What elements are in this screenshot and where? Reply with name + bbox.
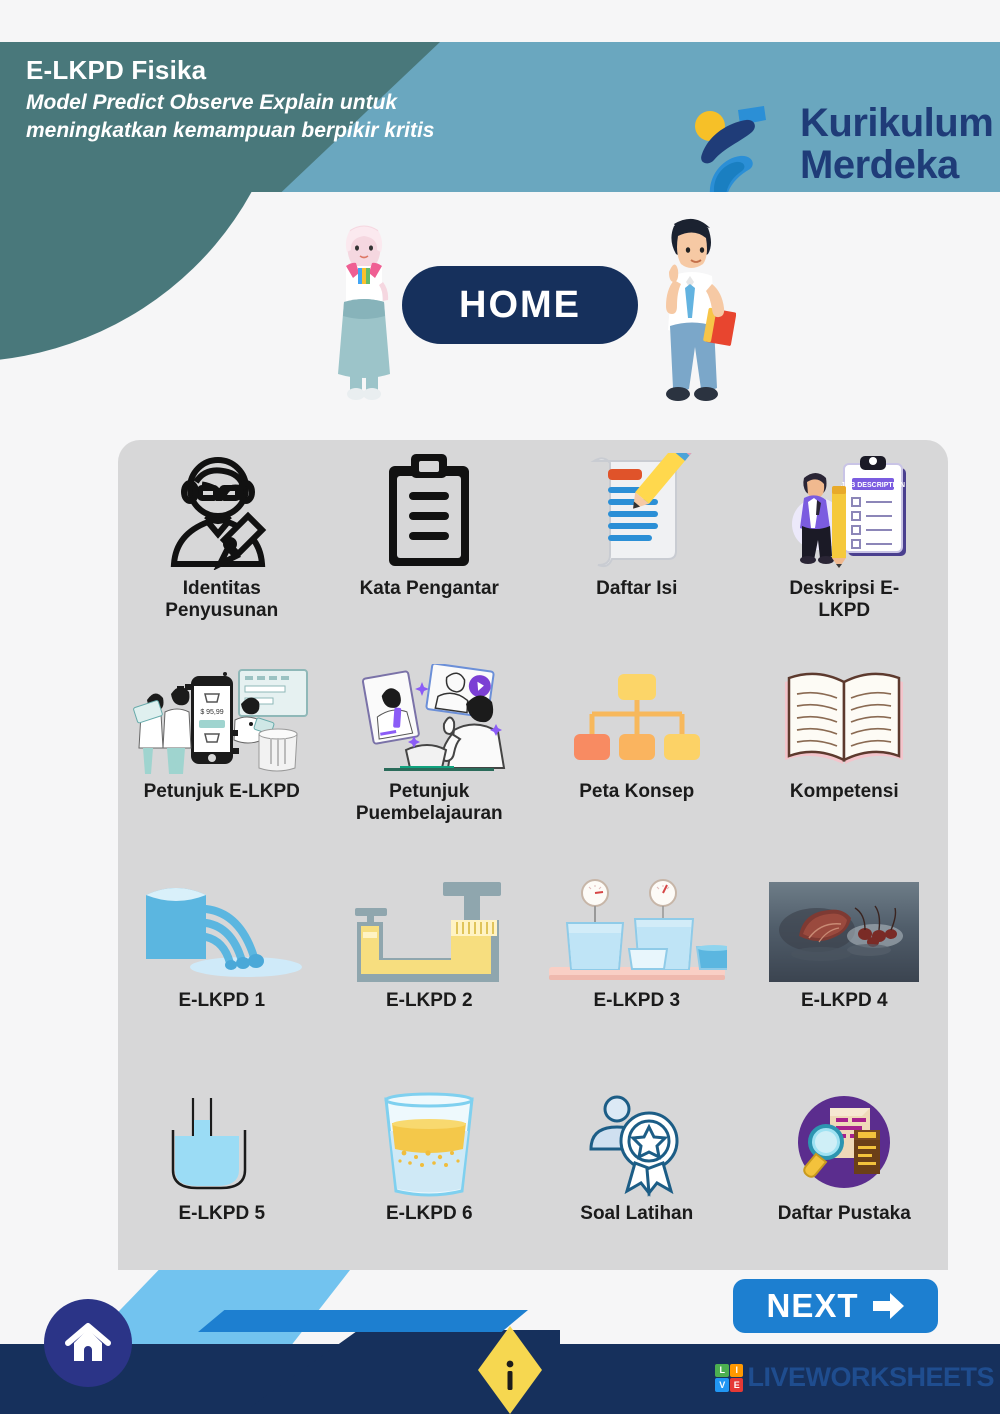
menu-kata-pengantar[interactable]: Kata Pengantar bbox=[326, 440, 534, 655]
next-button[interactable]: NEXT bbox=[733, 1279, 938, 1333]
menu-identitas-penyusunan[interactable]: Identitas Penyusunan bbox=[118, 440, 326, 655]
menu-petunjuk-elkpd[interactable]: $ 95,99 bbox=[118, 655, 326, 870]
brand-letter-e: E bbox=[730, 1378, 744, 1392]
menu-label: Kata Pengantar bbox=[360, 578, 499, 600]
svg-text:$ 95,99: $ 95,99 bbox=[200, 709, 223, 716]
menu-deskripsi-elkpd[interactable]: JOB DESCRIPTION Deskripsi E-LKPD bbox=[741, 440, 949, 655]
glass-of-liquid-icon bbox=[330, 1091, 530, 1201]
menu-grid: Identitas Penyusunan Kata Pengantar bbox=[118, 440, 948, 1300]
menu-label: Identitas Penyusunan bbox=[142, 578, 302, 622]
water-tank-jets-icon bbox=[122, 876, 322, 988]
job-description-clipboard-icon: JOB DESCRIPTION bbox=[745, 446, 945, 576]
menu-label: E-LKPD 4 bbox=[801, 990, 888, 1012]
next-label: NEXT bbox=[766, 1287, 858, 1325]
arrow-right-icon bbox=[871, 1292, 905, 1320]
liveworksheets-logo-mark: L I V E bbox=[715, 1364, 743, 1392]
info-icon bbox=[478, 1326, 542, 1414]
menu-label: Petunjuk Puembelajauran bbox=[349, 781, 509, 825]
liveworksheets-wordmark: LIVEWORKSHEETS bbox=[747, 1362, 994, 1393]
worksheet-page: E-LKPD Fisika Model Predict Observe Expl… bbox=[0, 0, 1000, 1414]
menu-elkpd-3[interactable]: E-LKPD 3 bbox=[533, 870, 741, 1085]
brand-letter-l: L bbox=[715, 1364, 729, 1378]
menu-elkpd-1[interactable]: E-LKPD 1 bbox=[118, 870, 326, 1085]
brand-letter-i: I bbox=[730, 1364, 744, 1378]
menu-elkpd-6[interactable]: E-LKPD 6 bbox=[326, 1085, 534, 1300]
menu-elkpd-2[interactable]: E-LKPD 2 bbox=[326, 870, 534, 1085]
magnifier-book-icon bbox=[745, 1091, 945, 1201]
info-button[interactable] bbox=[478, 1326, 542, 1414]
male-student-illustration bbox=[648, 214, 736, 404]
menu-label: E-LKPD 1 bbox=[178, 990, 265, 1012]
menu-daftar-pustaka[interactable]: Daftar Pustaka bbox=[741, 1085, 949, 1300]
menu-elkpd-5[interactable]: E-LKPD 5 bbox=[118, 1085, 326, 1300]
page-subtitle-line1: Model Predict Observe Explain untuk bbox=[26, 89, 666, 117]
logo-line-2: Merdeka bbox=[800, 144, 993, 186]
home-icon bbox=[64, 1321, 112, 1365]
clipboard-icon bbox=[330, 446, 530, 576]
menu-kompetensi[interactable]: Kompetensi bbox=[741, 655, 949, 870]
page-subtitle-line2: meningkatkan kemampuan berpikir kritis bbox=[26, 117, 666, 145]
menu-soal-latihan[interactable]: Soal Latihan bbox=[533, 1085, 741, 1300]
home-button[interactable]: HOME bbox=[402, 266, 638, 344]
capillary-tube-beaker-icon bbox=[122, 1091, 322, 1201]
kurikulum-merdeka-mark bbox=[680, 92, 800, 192]
menu-label: E-LKPD 5 bbox=[178, 1203, 265, 1225]
document-pencil-icon bbox=[537, 446, 737, 576]
hierarchy-chart-icon bbox=[537, 661, 737, 779]
mobile-shopping-illustration-icon: $ 95,99 bbox=[122, 661, 322, 779]
social-media-photos-icon bbox=[330, 661, 530, 779]
brand-letter-v: V bbox=[715, 1378, 729, 1392]
menu-label: Daftar Isi bbox=[596, 578, 677, 600]
page-title: E-LKPD Fisika bbox=[26, 56, 666, 86]
kurikulum-merdeka-text: Kurikulum Merdeka bbox=[800, 102, 993, 187]
menu-elkpd-4[interactable]: E-LKPD 4 bbox=[741, 870, 949, 1085]
menu-label: E-LKPD 2 bbox=[386, 990, 473, 1012]
kurikulum-merdeka-logo: Kurikulum Merdeka bbox=[680, 92, 1000, 192]
menu-label: E-LKPD 6 bbox=[386, 1203, 473, 1225]
menu-label: E-LKPD 3 bbox=[593, 990, 680, 1012]
hero-section: HOME bbox=[0, 192, 1000, 432]
menu-label: Peta Konsep bbox=[579, 781, 694, 803]
liveworksheets-brand: L I V E LIVEWORKSHEETS bbox=[715, 1362, 994, 1393]
leaf-floating-water-photo bbox=[745, 876, 945, 988]
menu-label: Soal Latihan bbox=[580, 1203, 693, 1225]
award-badge-person-icon bbox=[537, 1091, 737, 1201]
header-text-block: E-LKPD Fisika Model Predict Observe Expl… bbox=[26, 56, 666, 144]
menu-label: Kompetensi bbox=[790, 781, 899, 803]
page-header: E-LKPD Fisika Model Predict Observe Expl… bbox=[0, 42, 1000, 192]
female-student-illustration bbox=[330, 222, 398, 402]
person-writing-icon bbox=[122, 446, 322, 576]
menu-label: Deskripsi E-LKPD bbox=[764, 578, 924, 622]
home-nav-button[interactable] bbox=[44, 1299, 132, 1387]
clipboard-heading: JOB DESCRIPTION bbox=[841, 482, 905, 489]
buoyancy-spring-scale-icon bbox=[537, 876, 737, 988]
open-book-icon bbox=[745, 661, 945, 779]
hydraulic-press-icon bbox=[330, 876, 530, 988]
menu-label: Petunjuk E-LKPD bbox=[144, 781, 300, 803]
logo-line-1: Kurikulum bbox=[800, 102, 993, 144]
menu-peta-konsep[interactable]: Peta Konsep bbox=[533, 655, 741, 870]
menu-daftar-isi[interactable]: Daftar Isi bbox=[533, 440, 741, 655]
menu-petunjuk-pembelajaran[interactable]: Petunjuk Puembelajauran bbox=[326, 655, 534, 870]
menu-label: Daftar Pustaka bbox=[778, 1203, 911, 1225]
